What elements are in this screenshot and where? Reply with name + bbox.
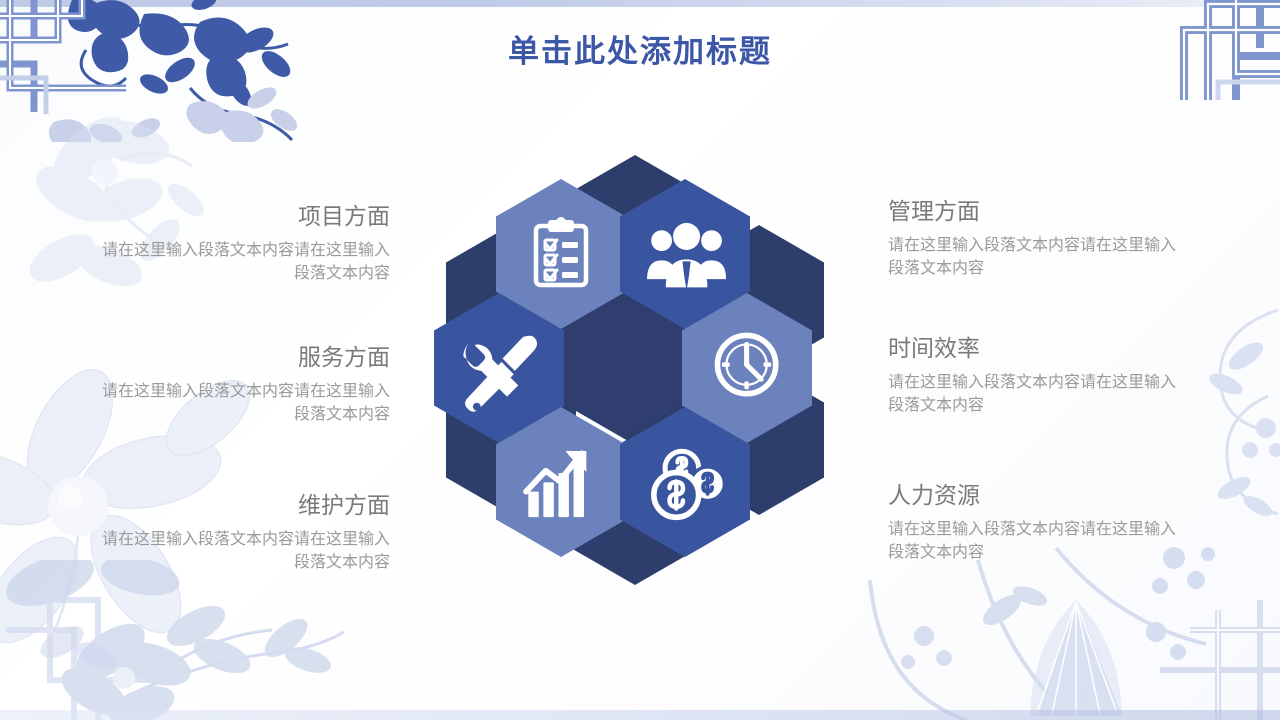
bottom-rule-divider [0, 710, 1280, 720]
bottom-left-floral-decoration [0, 560, 410, 720]
top-rule-divider [0, 0, 1280, 7]
heading-maintain: 维护方面 [90, 492, 390, 520]
text-block-service: 服务方面 请在这里输入段落文本内容请在这里输入段落文本内容 [90, 344, 390, 426]
heading-time: 时间效率 [888, 335, 1188, 363]
heading-manage: 管理方面 [888, 198, 1188, 226]
text-block-time: 时间效率 请在这里输入段落文本内容请在这里输入段落文本内容 [888, 335, 1188, 417]
clock-icon [717, 335, 775, 393]
body-project: 请在这里输入段落文本内容请在这里输入段落文本内容 [90, 239, 390, 285]
body-service: 请在这里输入段落文本内容请在这里输入段落文本内容 [90, 380, 390, 426]
body-maintain: 请在这里输入段落文本内容请在这里输入段落文本内容 [90, 528, 390, 574]
text-block-project: 项目方面 请在这里输入段落文本内容请在这里输入段落文本内容 [90, 203, 390, 285]
body-time: 请在这里输入段落文本内容请在这里输入段落文本内容 [888, 371, 1188, 417]
page-title: 单击此处添加标题 [0, 26, 1280, 71]
bottom-right-fan-decoration [860, 540, 1280, 720]
text-block-maintain: 维护方面 请在这里输入段落文本内容请在这里输入段落文本内容 [90, 492, 390, 574]
body-manage: 请在这里输入段落文本内容请在这里输入段落文本内容 [888, 234, 1188, 280]
heading-hr: 人力资源 [888, 482, 1188, 510]
slide-canvas: 单击此处添加标题 [0, 0, 1280, 720]
hexagon-cluster-diagram [430, 155, 870, 605]
body-hr: 请在这里输入段落文本内容请在这里输入段落文本内容 [888, 518, 1188, 564]
top-left-floral-decoration [0, 0, 324, 142]
text-block-manage: 管理方面 请在这里输入段落文本内容请在这里输入段落文本内容 [888, 198, 1188, 280]
heading-project: 项目方面 [90, 203, 390, 231]
text-block-hr: 人力资源 请在这里输入段落文本内容请在这里输入段落文本内容 [888, 482, 1188, 564]
heading-service: 服务方面 [90, 344, 390, 372]
